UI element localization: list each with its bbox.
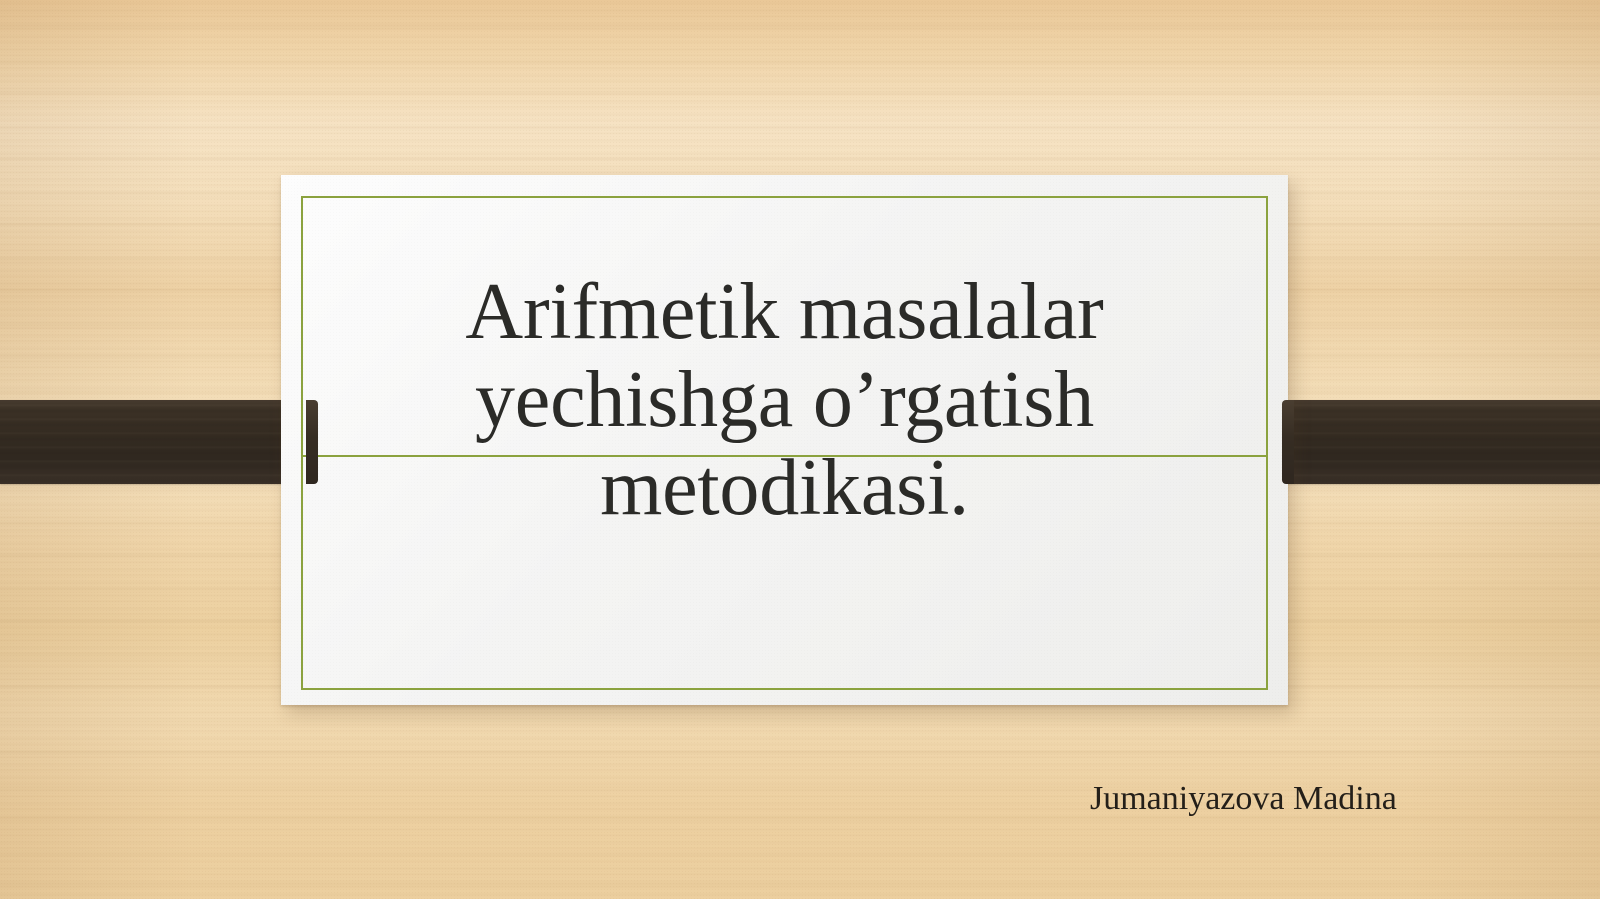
presenter-name: Jumaniyazova Madina [1090,779,1397,819]
decorative-band-left [0,400,318,484]
decorative-band-right [1282,400,1600,484]
slide-canvas: Arifmetik masalalar yechishga o’rgatish … [0,0,1600,899]
band-grain-left [0,400,318,484]
band-grain-right [1282,400,1600,484]
slide-title: Arifmetik masalalar yechishga o’rgatish … [301,268,1268,532]
band-tab-right [1282,400,1294,484]
